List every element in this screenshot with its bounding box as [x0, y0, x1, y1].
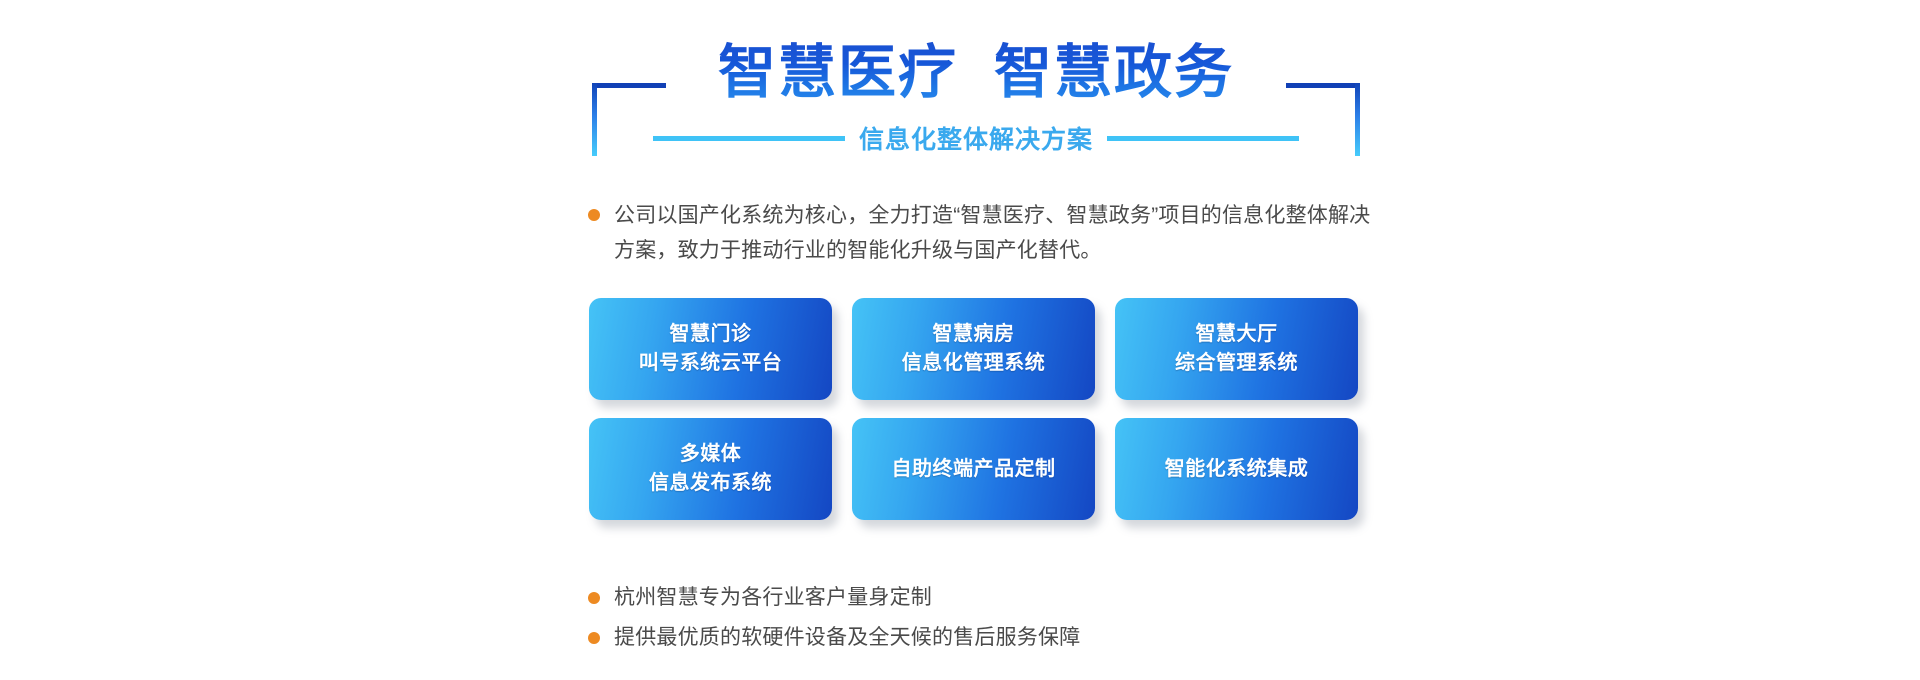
intro-paragraph: 公司以国产化系统为核心，全力打造“智慧医疗、智慧政务”项目的信息化整体解决方案，…	[588, 198, 1373, 268]
list-item: 杭州智慧专为各行业客户量身定制	[588, 578, 1373, 618]
bullet-dot-icon	[588, 632, 600, 644]
list-item-label: 提供最优质的软硬件设备及全天候的售后服务保障	[614, 623, 1080, 653]
list-item: 提供最优质的软硬件设备及全天候的售后服务保障	[588, 618, 1373, 658]
page-subtitle: 信息化整体解决方案	[859, 120, 1093, 156]
solution-card[interactable]: 智慧病房 信息化管理系统	[852, 298, 1095, 400]
solution-card-label: 智慧门诊 叫号系统云平台	[639, 320, 783, 378]
subtitle-rule-left	[653, 136, 845, 141]
solution-card[interactable]: 智能化系统集成	[1115, 418, 1358, 520]
feature-bullet-list: 杭州智慧专为各行业客户量身定制 提供最优质的软硬件设备及全天候的售后服务保障	[588, 578, 1373, 658]
solution-card-label: 自助终端产品定制	[892, 455, 1056, 484]
solution-card[interactable]: 智慧大厅 综合管理系统	[1115, 298, 1358, 400]
page-title: 智慧医疗智慧政务	[592, 34, 1360, 112]
bullet-dot-icon	[588, 209, 600, 221]
bullet-dot-icon	[588, 592, 600, 604]
promo-banner: 智慧医疗智慧政务 信息化整体解决方案 公司以国产化系统为核心，全力打造“智慧医疗…	[0, 0, 1920, 680]
solution-card[interactable]: 多媒体 信息发布系统	[589, 418, 832, 520]
subtitle-rule-right	[1107, 136, 1299, 141]
solution-card-label: 多媒体 信息发布系统	[649, 440, 772, 498]
intro-paragraph-text: 公司以国产化系统为核心，全力打造“智慧医疗、智慧政务”项目的信息化整体解决方案，…	[614, 198, 1373, 268]
page-title-part-2: 智慧政务	[994, 40, 1234, 105]
solution-card-label: 智慧大厅 综合管理系统	[1175, 320, 1298, 378]
title-block: 智慧医疗智慧政务 信息化整体解决方案	[592, 34, 1360, 156]
solution-card-grid: 智慧门诊 叫号系统云平台 智慧病房 信息化管理系统 智慧大厅 综合管理系统 多媒…	[589, 298, 1359, 520]
list-item-label: 杭州智慧专为各行业客户量身定制	[614, 583, 932, 613]
solution-card[interactable]: 智慧门诊 叫号系统云平台	[589, 298, 832, 400]
solution-card[interactable]: 自助终端产品定制	[852, 418, 1095, 520]
solution-card-label: 智慧病房 信息化管理系统	[902, 320, 1046, 378]
subtitle-row: 信息化整体解决方案	[592, 120, 1360, 156]
solution-card-label: 智能化系统集成	[1165, 455, 1309, 484]
page-title-part-1: 智慧医疗	[718, 40, 958, 105]
